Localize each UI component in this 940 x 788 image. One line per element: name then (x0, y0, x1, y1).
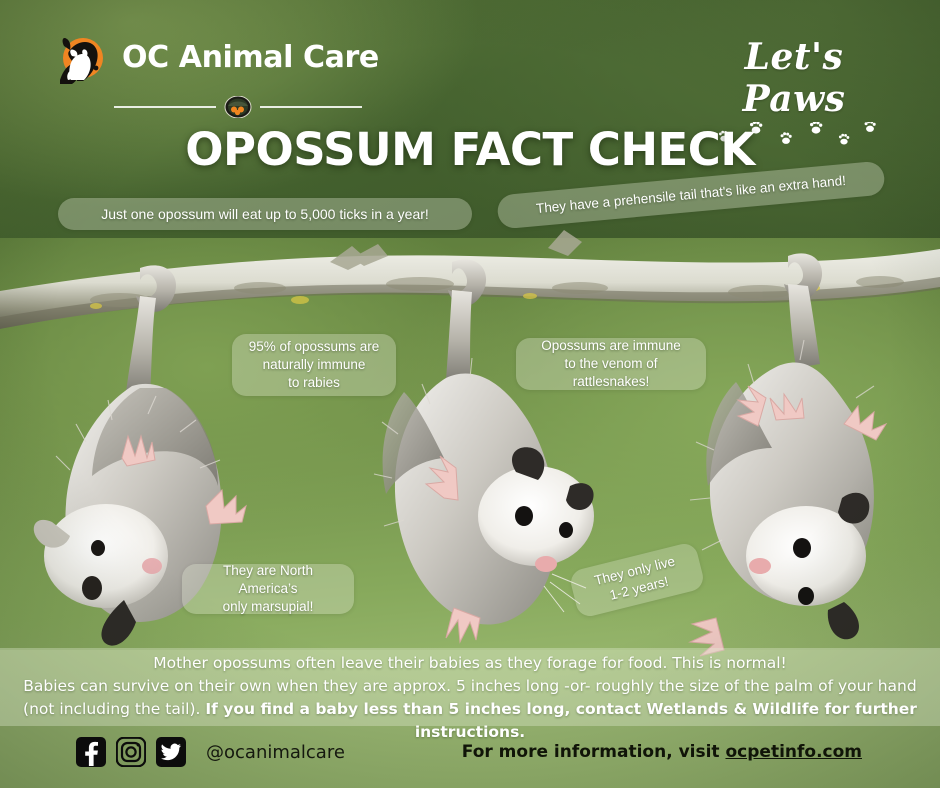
logo-divider (114, 96, 362, 118)
footer: @ocanimalcare For more information, visi… (0, 726, 940, 788)
fact-venom-line2: to the venom of rattlesnakes! (564, 356, 657, 389)
social-links: @ocanimalcare (76, 737, 345, 767)
logo[interactable]: OC Animal Care (50, 34, 370, 114)
oc-animal-care-dog-cat-logo-icon (50, 34, 112, 90)
background-middle (0, 238, 940, 668)
orange-county-seal-icon (220, 96, 256, 118)
fact-box-marsupial: They are North America’s only marsupial! (182, 564, 354, 614)
fact-rabies-line2: naturally immune (263, 357, 366, 372)
fact-marsupial-line1: They are North America’s (223, 563, 313, 596)
fact-ticks-text: Just one opossum will eat up to 5,000 ti… (101, 205, 429, 223)
instagram-icon[interactable] (116, 737, 146, 767)
fact-marsupial-line2: only marsupial! (223, 599, 314, 614)
paragraph-line-3-plain: (not including the tail). (23, 700, 200, 718)
fact-box-rabies: 95% of opossums are naturally immune to … (232, 334, 396, 396)
website-link[interactable]: ocpetinfo.com (725, 742, 862, 762)
lets-paws-text: Let's Paws (694, 36, 894, 120)
more-info-prefix: For more information, visit (462, 742, 726, 762)
fact-rabies-line3: to rabies (288, 375, 340, 390)
logo-text: OC Animal Care (122, 40, 379, 75)
paragraph-line-2: Babies can survive on their own when the… (0, 675, 940, 698)
more-info: For more information, visit ocpetinfo.co… (462, 742, 862, 762)
fact-rabies-line1: 95% of opossums are (249, 339, 380, 354)
twitter-icon[interactable] (156, 737, 186, 767)
fact-venom-line1: Opossums are immune (541, 338, 681, 353)
infographic-poster: OC Animal Care Let's Paws (0, 0, 940, 788)
social-handle[interactable]: @ocanimalcare (206, 742, 345, 763)
facebook-icon[interactable] (76, 737, 106, 767)
fact-box-ticks: Just one opossum will eat up to 5,000 ti… (58, 198, 472, 230)
fact-box-venom: Opossums are immune to the venom of ratt… (516, 338, 706, 390)
paragraph-line-1: Mother opossums often leave their babies… (0, 652, 940, 675)
